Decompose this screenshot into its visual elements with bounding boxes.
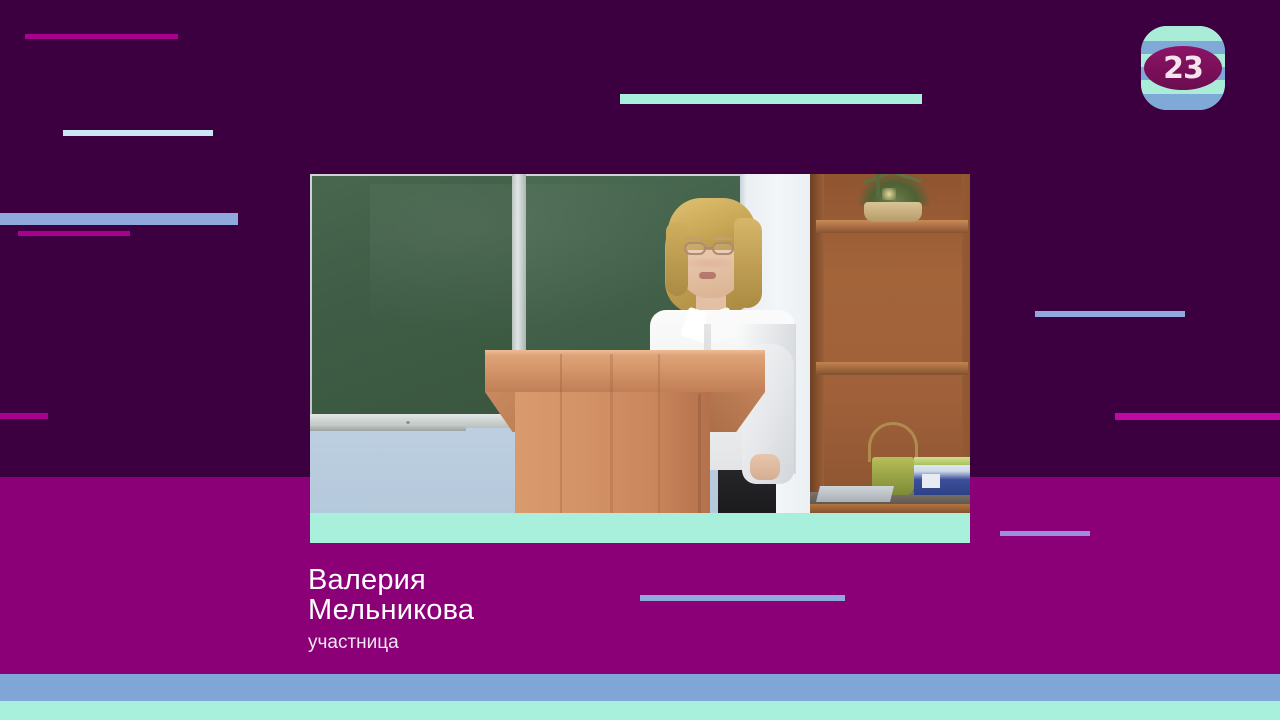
logo-stripe bbox=[1141, 94, 1225, 110]
speaker-name-line-2: Мельникова bbox=[308, 595, 474, 625]
channel-logo-icon: 23 bbox=[1141, 26, 1225, 110]
photo-accent-bar bbox=[310, 513, 970, 543]
plant-highlight bbox=[882, 188, 896, 200]
footer-mint-band bbox=[0, 701, 1280, 720]
shelf-board-middle bbox=[816, 362, 968, 375]
speaker-hair-left bbox=[666, 222, 688, 296]
deco-line-1 bbox=[25, 34, 178, 39]
deco-line-9 bbox=[1000, 531, 1090, 536]
eyebrow-right bbox=[713, 237, 732, 240]
logo-stripe bbox=[1141, 26, 1225, 41]
deco-line-8 bbox=[1115, 413, 1280, 420]
chalk-piece bbox=[406, 421, 410, 424]
deco-line-5 bbox=[18, 231, 130, 236]
chalkboard-ledge-lower bbox=[310, 424, 466, 431]
podium-grain bbox=[698, 394, 701, 513]
shelf-base bbox=[810, 504, 970, 513]
speaker-hand bbox=[750, 454, 780, 480]
glasses-lens-left bbox=[684, 242, 706, 255]
deco-line-2 bbox=[63, 130, 213, 136]
deco-line-10 bbox=[640, 595, 845, 601]
podium-grain bbox=[560, 354, 562, 513]
plant-leaf bbox=[876, 174, 880, 198]
face-shading bbox=[688, 258, 732, 268]
deco-line-6 bbox=[0, 413, 48, 419]
broadcast-frame: Валерия Мельникова участница 23 bbox=[0, 0, 1280, 720]
lower-third: Валерия Мельникова участница bbox=[308, 565, 474, 654]
speaker-mouth bbox=[699, 272, 716, 279]
podium-grain bbox=[610, 354, 613, 513]
paper-sheet bbox=[816, 486, 894, 502]
speaker-hair-right bbox=[734, 218, 762, 308]
podium-top-edge bbox=[485, 350, 765, 356]
box-lid bbox=[914, 457, 970, 465]
glasses-lens-right bbox=[712, 242, 734, 255]
glasses-bridge bbox=[706, 247, 713, 249]
deco-line-4 bbox=[0, 213, 238, 225]
eyebrow-left bbox=[685, 237, 704, 240]
speaker-role: участница bbox=[308, 632, 474, 654]
podium-top bbox=[485, 350, 765, 392]
logo-stripes: 23 bbox=[1141, 26, 1225, 110]
speaker-name-line-1: Валерия bbox=[308, 565, 474, 595]
logo-channel-number: 23 bbox=[1144, 46, 1222, 90]
footer-blue-band bbox=[0, 674, 1280, 701]
deco-line-3 bbox=[620, 94, 922, 104]
podium-grain bbox=[658, 354, 660, 513]
deco-line-7 bbox=[1035, 311, 1185, 317]
wicker-basket bbox=[864, 202, 922, 222]
speaker-photo bbox=[310, 174, 970, 513]
box-label bbox=[922, 474, 940, 488]
